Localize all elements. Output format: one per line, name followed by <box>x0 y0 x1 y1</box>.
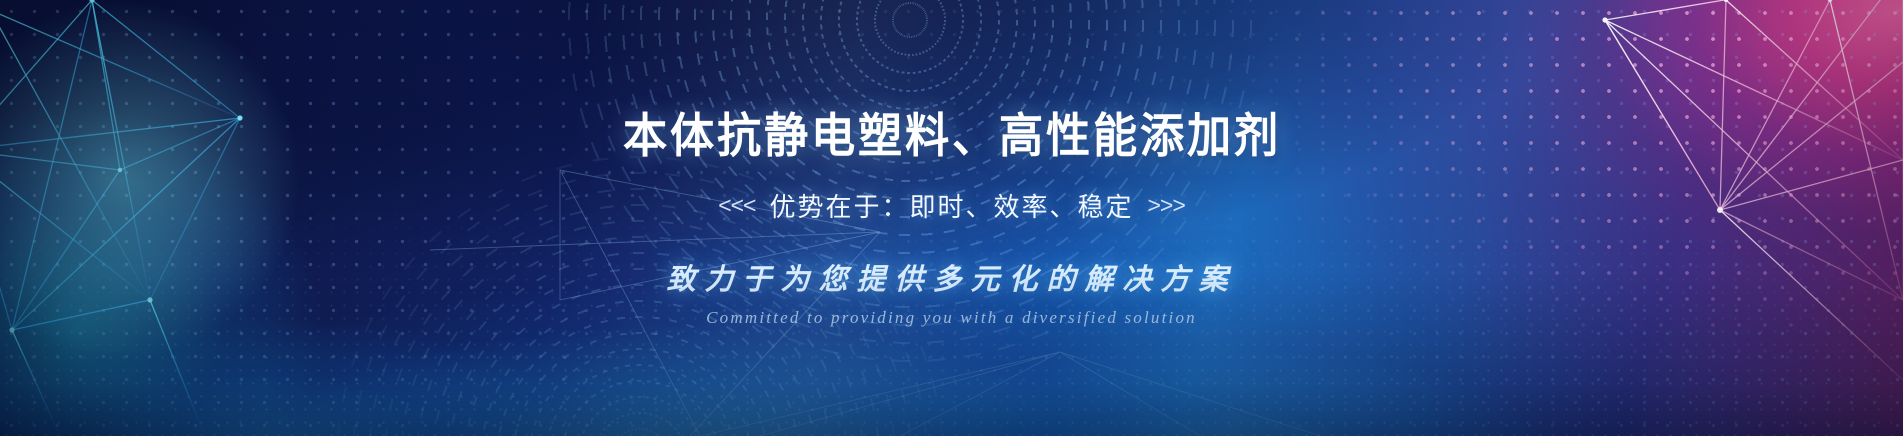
chevron-left-marker: <<< <box>718 192 755 219</box>
banner-subtitle: <<< 优势在于：即时、效率、稳定 >>> <box>718 187 1185 224</box>
calligraphy-slogan: 致力于为您提供多元化的解决方案 <box>666 256 1236 298</box>
banner-content: 本体抗静电塑料、高性能添加剂 <<< 优势在于：即时、效率、稳定 >>> 致力于… <box>0 0 1903 436</box>
english-tagline: Committed to providing you with a divers… <box>706 308 1197 328</box>
chevron-right-marker: >>> <box>1148 192 1185 219</box>
subtitle-text: 优势在于：即时、效率、稳定 <box>769 187 1133 224</box>
page-title: 本体抗静电塑料、高性能添加剂 <box>623 112 1281 159</box>
hero-banner: 本体抗静电塑料、高性能添加剂 <<< 优势在于：即时、效率、稳定 >>> 致力于… <box>0 0 1903 436</box>
